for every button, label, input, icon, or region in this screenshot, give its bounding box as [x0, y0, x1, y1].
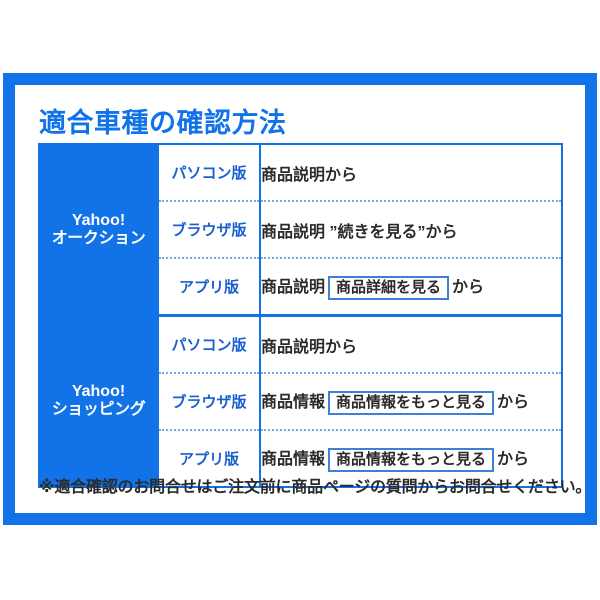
table-row: Yahoo! オークション パソコン版 商品説明から: [39, 144, 562, 201]
service-cell-auction: Yahoo! オークション: [39, 144, 158, 316]
page-title: 適合車種の確認方法: [39, 101, 287, 140]
description-prefix: 商品情報: [261, 394, 325, 411]
description-prefix: 商品説明から: [261, 339, 357, 356]
footer-note: ※適合確認のお問合せはご注文前に商品ページの質問からお問合せください。: [39, 473, 591, 497]
version-label-app: アプリ版: [158, 258, 260, 316]
ui-chip-button[interactable]: 商品情報をもっと見る: [328, 448, 494, 472]
version-label-pc: パソコン版: [158, 316, 260, 374]
description-prefix: 商品説明: [261, 279, 325, 296]
frame-inner: 適合車種の確認方法 Yahoo! オークション パソコン版 商品説明から: [15, 85, 585, 513]
description-cell: 商品説明から: [260, 144, 562, 201]
ui-chip-button[interactable]: 商品詳細を見る: [328, 276, 449, 300]
service-brand-label: Yahoo!: [40, 212, 157, 230]
description-cell: 商品情報商品情報をもっと見るから: [260, 373, 562, 430]
ui-chip-button[interactable]: 商品情報をもっと見る: [328, 391, 494, 415]
description-cell: 商品説明商品詳細を見るから: [260, 258, 562, 316]
service-brand-label: Yahoo!: [40, 383, 157, 401]
description-cell: 商品説明から: [260, 316, 562, 374]
table-row: Yahoo! ショッピング パソコン版 商品説明から: [39, 316, 562, 374]
service-sub-label: ショッピング: [40, 401, 157, 419]
description-suffix: から: [452, 279, 484, 296]
version-label-browser: ブラウザ版: [158, 201, 260, 258]
version-label-browser: ブラウザ版: [158, 373, 260, 430]
service-cell-shopping: Yahoo! ショッピング: [39, 316, 158, 488]
blue-frame-border: 適合車種の確認方法 Yahoo! オークション パソコン版 商品説明から: [3, 73, 597, 525]
description-suffix: から: [497, 394, 529, 411]
description-prefix: 商品説明から: [261, 167, 357, 184]
compatibility-table: Yahoo! オークション パソコン版 商品説明から ブラウザ版 商品説明 ”続…: [38, 143, 563, 488]
description-prefix: 商品情報: [261, 451, 325, 468]
version-label-pc: パソコン版: [158, 144, 260, 201]
description-prefix: 商品説明 ”続きを見る”から: [261, 224, 457, 241]
infographic-canvas: 適合車種の確認方法 Yahoo! オークション パソコン版 商品説明から: [0, 0, 600, 600]
description-suffix: から: [497, 451, 529, 468]
service-sub-label: オークション: [40, 230, 157, 248]
description-cell: 商品説明 ”続きを見る”から: [260, 201, 562, 258]
